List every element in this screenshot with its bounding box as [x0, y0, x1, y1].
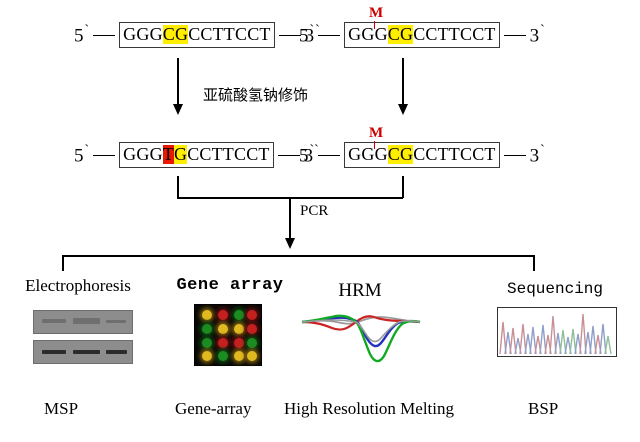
- sequence-box-bottom-left: GGGTGCCTTCCT: [119, 142, 273, 168]
- strand-lead-line: [279, 35, 301, 36]
- five-prime-label-top-left: 5`: [74, 23, 89, 47]
- seq-prefix: GGG: [348, 145, 388, 164]
- methyl-stem-bottom-right: [374, 141, 375, 149]
- strand-lead-line: [318, 35, 340, 36]
- cpg-highlight: G: [174, 145, 187, 164]
- sequence-top-right: 5` GGGCGCCTTCCT 3`: [299, 22, 545, 48]
- five-prime-label-bottom-left: 5`: [74, 143, 89, 167]
- bisulfite-arrow-left-shaft: [177, 58, 179, 106]
- microarray-grid-icon: [194, 304, 262, 366]
- pcr-label: PCR: [300, 203, 328, 220]
- pcr-arrow-shaft: [289, 197, 291, 241]
- cpg-highlight: CG: [388, 25, 413, 44]
- seq-prefix: GGG: [123, 25, 163, 44]
- bisulfite-arrow-right-shaft: [402, 58, 404, 106]
- strand-lead-line: [278, 155, 300, 156]
- three-prime-label-top-right: 3`: [530, 23, 545, 47]
- strand-lead-line: [93, 155, 115, 156]
- seq-prefix: GGG: [348, 25, 388, 44]
- cpg-highlight: CG: [163, 25, 188, 44]
- seq-suffix: CCTTCCT: [413, 25, 495, 44]
- methyl-stem-top-right: [374, 21, 375, 29]
- five-prime-label-top-right: 5`: [299, 23, 314, 47]
- branch-tick-left: [62, 255, 64, 271]
- converted-base-highlight: T: [163, 145, 174, 164]
- three-prime-label-bottom-right: 3`: [530, 143, 545, 167]
- strand-lead-line: [504, 155, 526, 156]
- bisulfite-treatment-label: 亚硫酸氢钠修饰: [203, 84, 308, 105]
- panel-title-hrm: HRM: [330, 280, 390, 302]
- seq-suffix: CCTTCCT: [187, 145, 269, 164]
- panel-title-gene-array: Gene array: [172, 276, 288, 295]
- sequence-box-top-right: GGGCGCCTTCCT: [344, 22, 499, 48]
- pcr-arrow-head: [285, 238, 295, 249]
- panel-title-sequencing: Sequencing: [495, 280, 615, 298]
- sequence-box-bottom-right: GGGCGCCTTCCT: [344, 142, 499, 168]
- branch-bracket-bar: [62, 255, 535, 257]
- method-label-hrm: High Resolution Melting: [284, 399, 454, 419]
- melt-curve-icon: [300, 306, 422, 368]
- converge-right-drop: [402, 176, 404, 198]
- sequence-bottom-left: 5` GGGTGCCTTCCT 3`: [74, 142, 319, 168]
- five-prime-label-bottom-right: 5`: [299, 143, 314, 167]
- cpg-highlight: CG: [388, 145, 413, 164]
- converge-left-drop: [177, 176, 179, 198]
- methyl-mark-bottom-right: M: [369, 126, 383, 141]
- method-label-bsp: BSP: [528, 399, 558, 419]
- methyl-mark-top-right: M: [369, 6, 383, 21]
- sequence-box-top-left: GGGCGCCTTCCT: [119, 22, 274, 48]
- strand-lead-line: [93, 35, 115, 36]
- chromatogram-icon: [497, 307, 617, 357]
- bisulfite-arrow-left-head: [173, 104, 183, 115]
- seq-suffix: CCTTCCT: [413, 145, 495, 164]
- strand-lead-line: [504, 35, 526, 36]
- method-label-msp: MSP: [44, 399, 78, 419]
- sequence-top-left: 5` GGGCGCCTTCCT 3`: [74, 22, 320, 48]
- method-label-gene-array: Gene-array: [175, 399, 251, 419]
- bisulfite-arrow-right-head: [398, 104, 408, 115]
- seq-prefix: GGG: [123, 145, 163, 164]
- diagram-canvas: 5` GGGCGCCTTCCT 3` 5` GGGCGCCTTCCT 3` M …: [0, 0, 640, 442]
- sequence-bottom-right: 5` GGGCGCCTTCCT 3`: [299, 142, 545, 168]
- seq-suffix: CCTTCCT: [188, 25, 270, 44]
- branch-tick-right: [533, 255, 535, 271]
- panel-title-electrophoresis: Electrophoresis: [14, 276, 142, 296]
- strand-lead-line: [318, 155, 340, 156]
